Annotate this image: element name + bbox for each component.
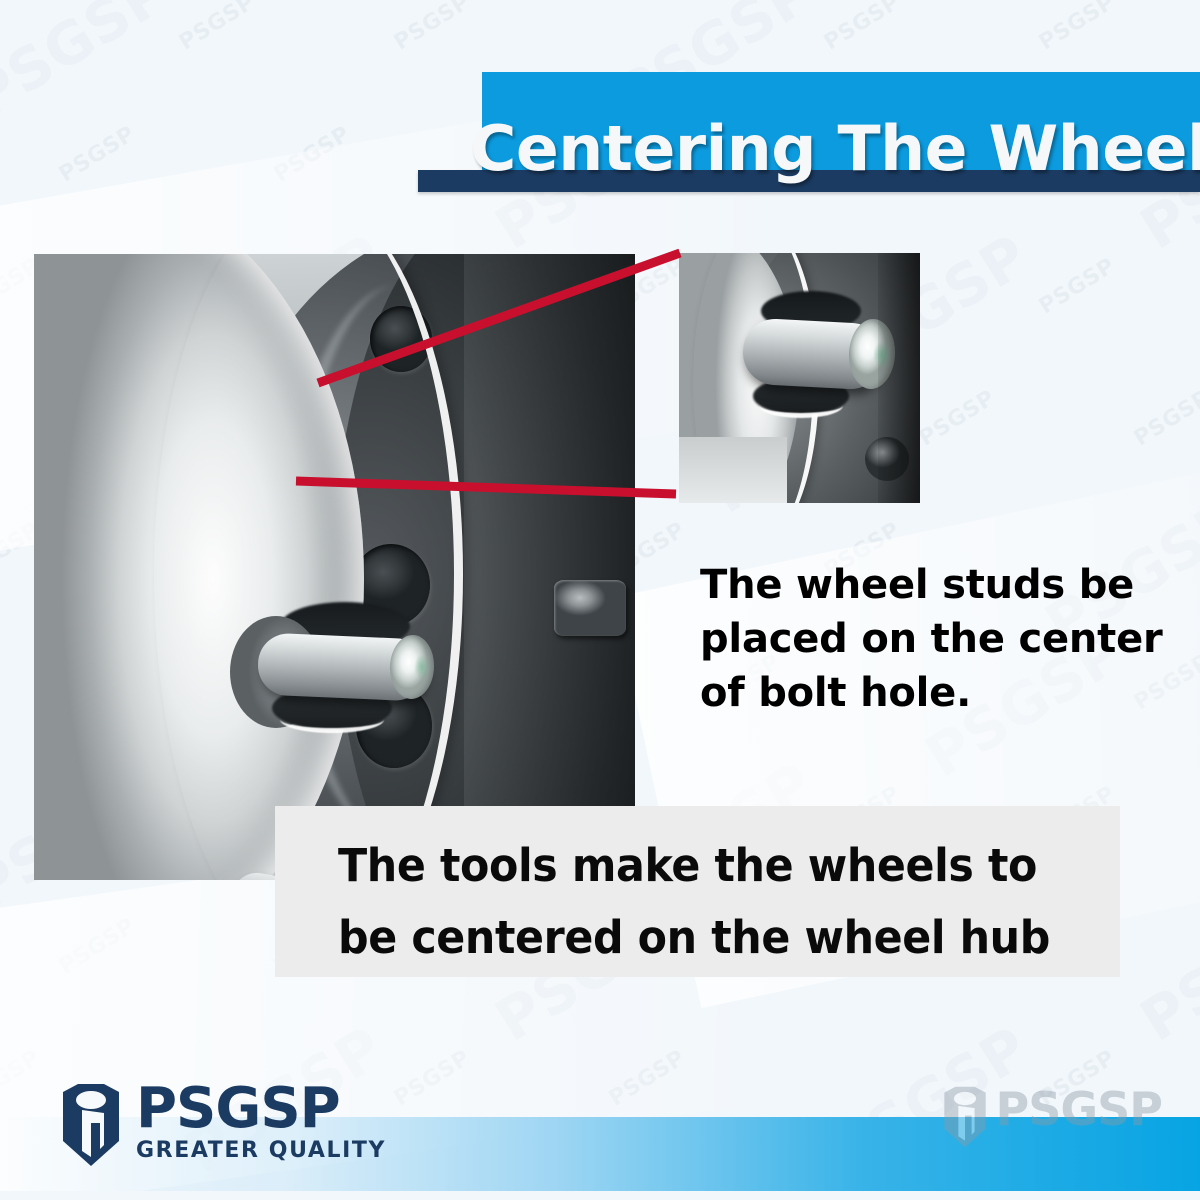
callout-line-1: The wheel studs be <box>700 558 1170 612</box>
wheel-nut <box>554 580 626 636</box>
background-watermark: PSGSP <box>915 386 1000 452</box>
background-watermark: PSGSP <box>270 122 355 188</box>
brand-logo: PSGSP GREATER QUALITY <box>60 1083 386 1167</box>
footer-watermark-logo: PSGSP <box>942 1086 1162 1148</box>
caption-line-2: be centered on the wheel hub <box>338 902 1060 974</box>
inset-shadow-right <box>878 253 920 503</box>
caption-text: The tools make the wheels to be centered… <box>338 830 1060 974</box>
background-watermark: PSGSP <box>55 122 140 188</box>
brand-wordmark: PSGSP <box>136 1083 386 1135</box>
brand-tagline: GREATER QUALITY <box>136 1137 386 1165</box>
callout-line-3: of bolt hole. <box>700 666 1170 720</box>
wheel-stud-closeup-photo <box>679 253 920 503</box>
callout-line-2: placed on the center <box>700 612 1170 666</box>
background-watermark: PSGSP <box>820 0 905 55</box>
background-watermark: PSGSP <box>55 914 140 980</box>
background-watermark: PSGSP <box>1035 0 1120 55</box>
background-watermark: PSGSP <box>605 1046 690 1112</box>
background-watermark: PSGSP <box>390 1046 475 1112</box>
background-watermark: PSGSP <box>1129 881 1200 1055</box>
psgsp-shield-icon <box>60 1083 122 1167</box>
page-title: Centering The Wheel <box>470 118 1200 190</box>
background-watermark: PSGSP <box>1130 386 1200 452</box>
bolt-hole-lower-highlight <box>280 706 384 733</box>
psgsp-shield-watermark-icon <box>942 1086 988 1148</box>
callout-text: The wheel studs be placed on the center … <box>700 558 1170 720</box>
background-watermark: PSGSP <box>390 0 475 55</box>
background-watermark: PSGSP <box>0 1046 45 1112</box>
background-watermark: PSGSP <box>175 0 260 55</box>
wheel-stud-tip-glint <box>414 654 430 680</box>
rim-chrome-edge <box>154 254 463 880</box>
background-watermark: PSGSP <box>0 0 180 131</box>
caption-line-1: The tools make the wheels to <box>338 830 1060 902</box>
background-watermark: PSGSP <box>1035 254 1120 320</box>
inset-bolt-hole-lower-highlight <box>759 393 843 418</box>
canvas-bottom-edge <box>0 1191 1200 1200</box>
inset-rim-base <box>679 437 787 503</box>
poster-canvas: PSGSPPSGSPPSGSPPSGSPPSGSPPSGSPPSGSPPSGSP… <box>0 0 1200 1200</box>
footer-watermark-wordmark: PSGSP <box>996 1086 1162 1132</box>
wheel-hub-photo <box>34 254 635 880</box>
